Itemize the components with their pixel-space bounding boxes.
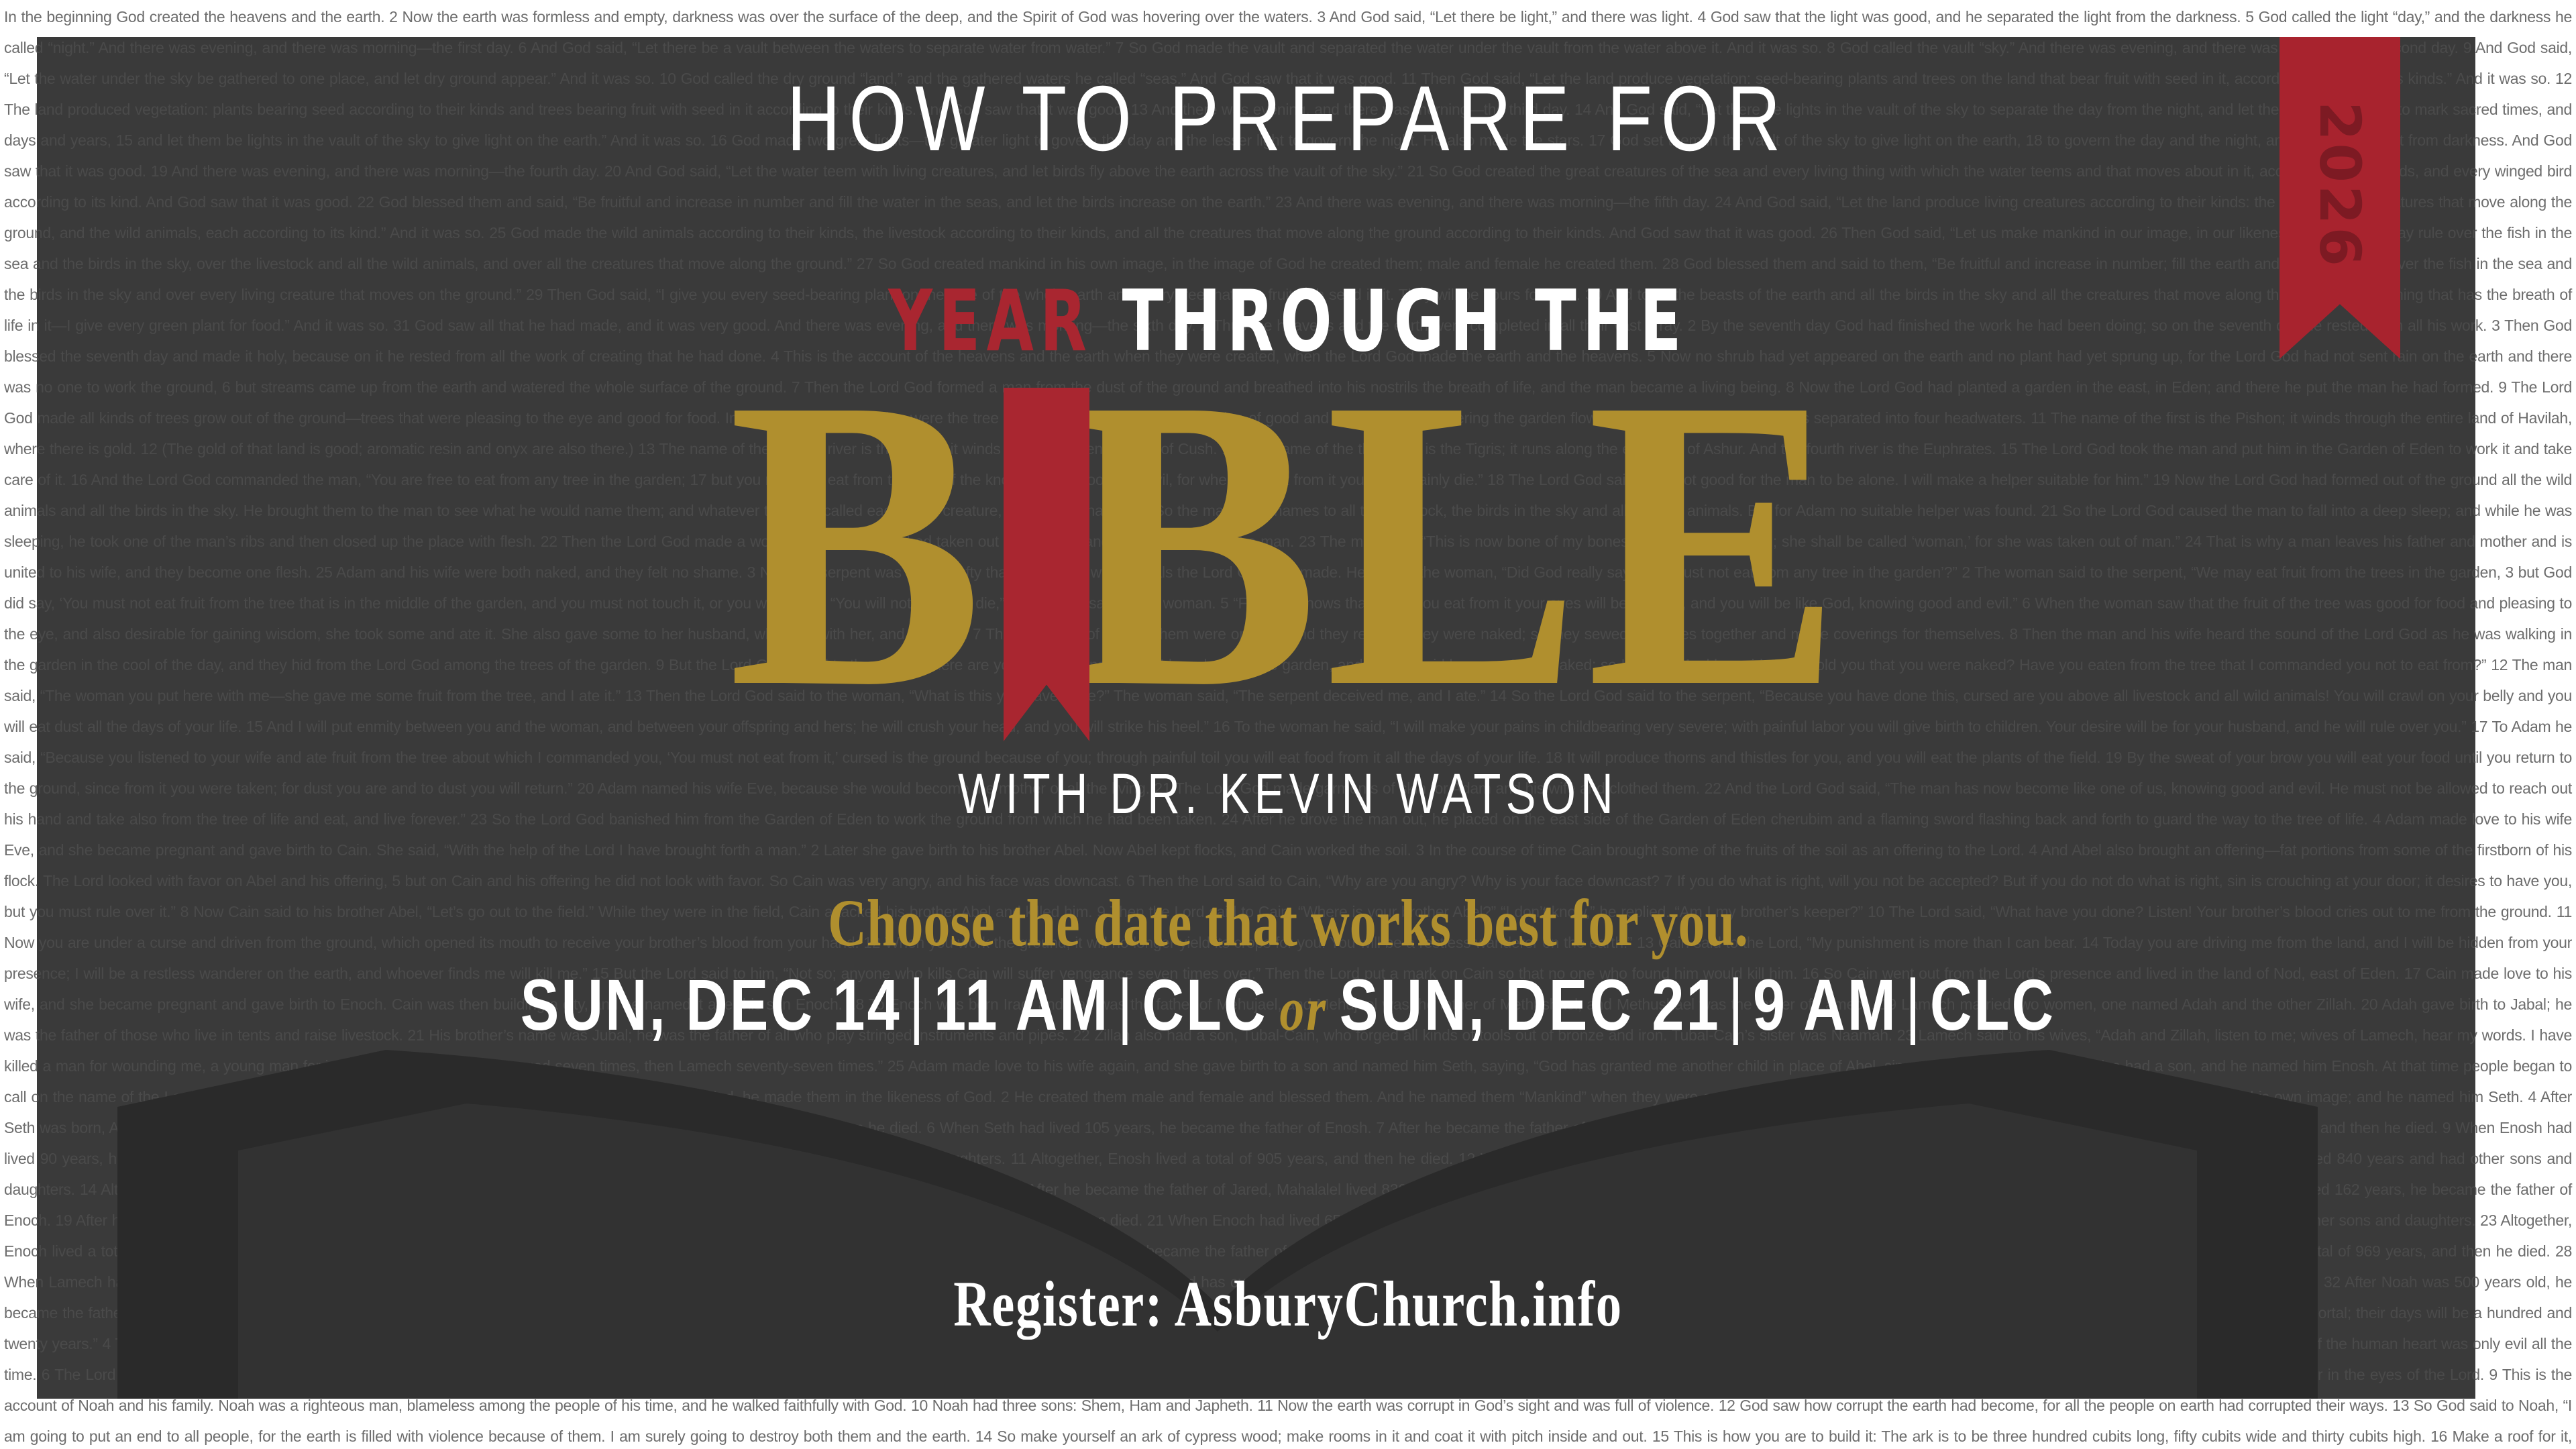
date-option-2-day: SUN, DEC 21 <box>1340 964 1721 1045</box>
poster-content: HOW TO PREPARE FOR YEARTHROUGH THE BBLE … <box>0 0 2576 1449</box>
dates-line: SUN, DEC 14|11 AM|CLCorSUN, DEC 21|9 AM|… <box>258 963 2318 1046</box>
headline-line-1: HOW TO PREPARE FOR <box>258 66 2318 172</box>
tagline: Choose the date that works best for you. <box>258 884 2318 961</box>
date-conjunction: or <box>1268 975 1340 1043</box>
date-separator-1: | <box>902 964 934 1045</box>
register-line[interactable]: Register: AsburyChurch.info <box>258 1267 2318 1341</box>
date-option-1-time: 11 AM <box>934 964 1110 1045</box>
ribbon-year-label: 2026 <box>2307 101 2373 269</box>
date-option-2-place: CLC <box>1930 964 2055 1045</box>
bible-letters-ble: BLE <box>1064 313 1848 773</box>
bible-letter-b: B <box>728 313 989 773</box>
date-option-1-place: CLC <box>1142 964 1268 1045</box>
date-separator-2: | <box>1110 964 1142 1045</box>
year-ribbon: 2026 <box>2279 37 2400 359</box>
date-separator-4: | <box>1898 964 1930 1045</box>
speaker-line: WITH DR. KEVIN WATSON <box>258 761 2318 826</box>
date-option-1-day: SUN, DEC 14 <box>521 964 902 1045</box>
poster-canvas: In the beginning God created the heavens… <box>0 0 2576 1449</box>
bible-wordmark: BBLE <box>0 335 2576 765</box>
bible-wordmark-text: BBLE <box>103 335 2473 751</box>
date-option-2-time: 9 AM <box>1753 964 1898 1045</box>
date-separator-3: | <box>1721 964 1753 1045</box>
